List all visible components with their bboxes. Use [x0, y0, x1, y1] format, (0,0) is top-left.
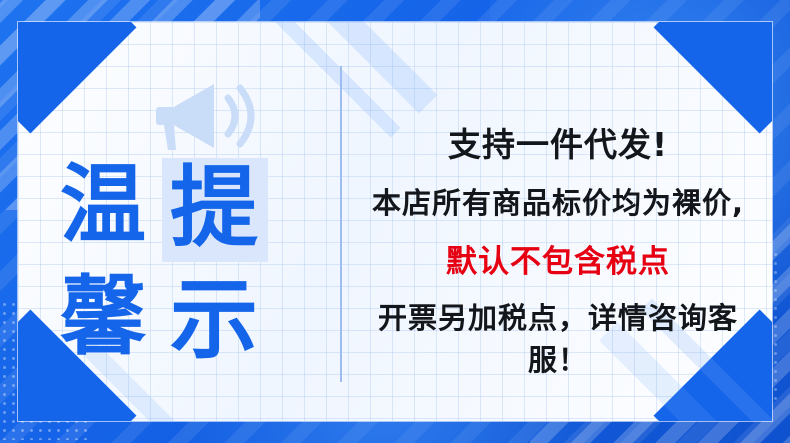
title-char-shi: 示: [170, 276, 258, 364]
message-line-2: 本店所有商品标价均为裸价,: [362, 180, 754, 222]
message-line-3-highlight: 默认不包含税点: [362, 236, 754, 281]
vertical-divider: [340, 66, 342, 382]
promo-banner: 温 提 馨 示 支持一件代发! 本店所有商品标价均为裸价, 默认不包含税点 开票…: [0, 0, 790, 443]
notice-message-block: 支持一件代发! 本店所有商品标价均为裸价, 默认不包含税点 开票另加税点，详情咨…: [362, 118, 754, 379]
message-line-4: 开票另加税点，详情咨询客服！: [362, 295, 754, 379]
title-char-xin: 馨: [60, 274, 146, 360]
title-char-ti: 提: [170, 164, 258, 252]
content-panel: 温 提 馨 示 支持一件代发! 本店所有商品标价均为裸价, 默认不包含税点 开票…: [18, 22, 772, 421]
message-line-1: 支持一件代发!: [362, 118, 754, 166]
notice-title-block: 温 提 馨 示: [54, 76, 322, 406]
title-char-wen: 温: [60, 162, 146, 248]
